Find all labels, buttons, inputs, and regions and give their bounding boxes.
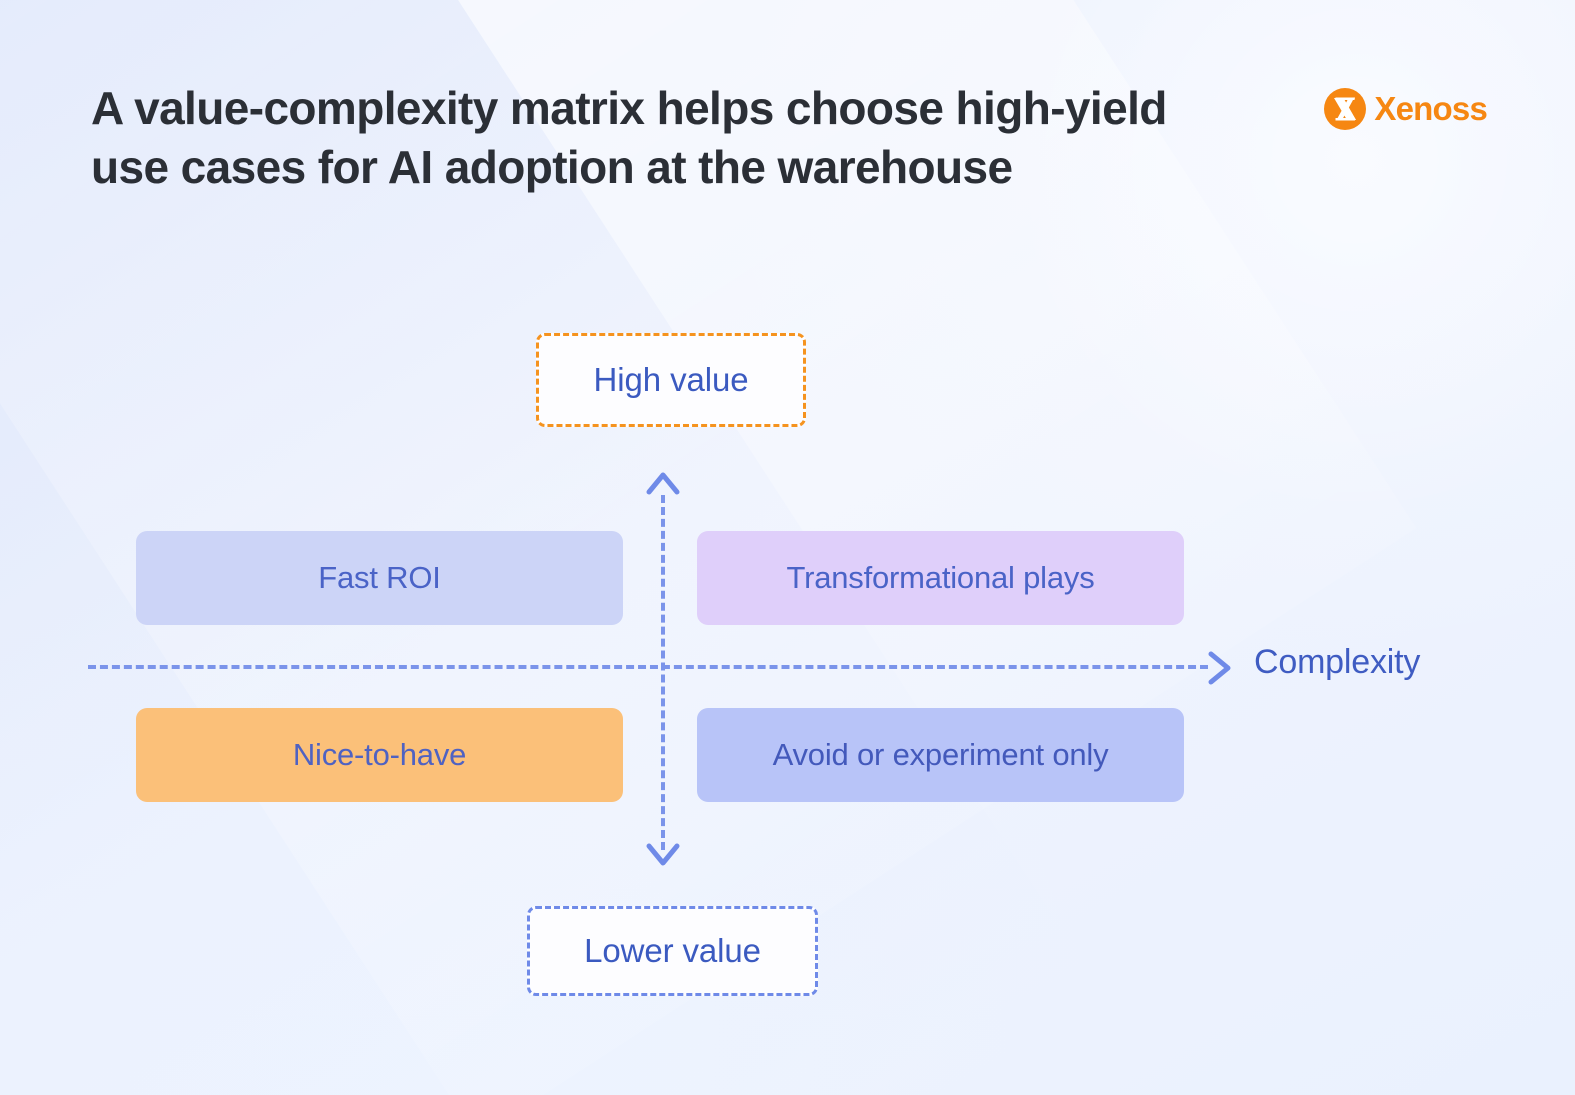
arrow-down-icon bbox=[645, 840, 681, 875]
brand-name: Xenoss bbox=[1374, 90, 1487, 128]
arrow-up-icon bbox=[645, 468, 681, 503]
quadrant-card-transformational-plays: Transformational plays bbox=[697, 531, 1184, 625]
quadrant-card-fast-roi: Fast ROI bbox=[136, 531, 623, 625]
brand-logo: Xenoss bbox=[1323, 87, 1487, 131]
xenoss-logo-icon bbox=[1323, 87, 1367, 131]
axis-label-high-value: High value bbox=[536, 333, 806, 427]
quadrant-card-nice-to-have: Nice-to-have bbox=[136, 708, 623, 802]
infographic-canvas: A value-complexity matrix helps choose h… bbox=[0, 0, 1575, 1095]
quadrant-card-avoid-or-experiment-only: Avoid or experiment only bbox=[697, 708, 1184, 802]
axis-label-lower-value: Lower value bbox=[527, 906, 818, 996]
vertical-axis-line bbox=[661, 495, 665, 850]
horizontal-axis-line bbox=[88, 665, 1208, 669]
page-title: A value-complexity matrix helps choose h… bbox=[91, 79, 1201, 198]
axis-label-complexity: Complexity bbox=[1254, 643, 1420, 682]
arrow-right-icon bbox=[1205, 650, 1235, 691]
